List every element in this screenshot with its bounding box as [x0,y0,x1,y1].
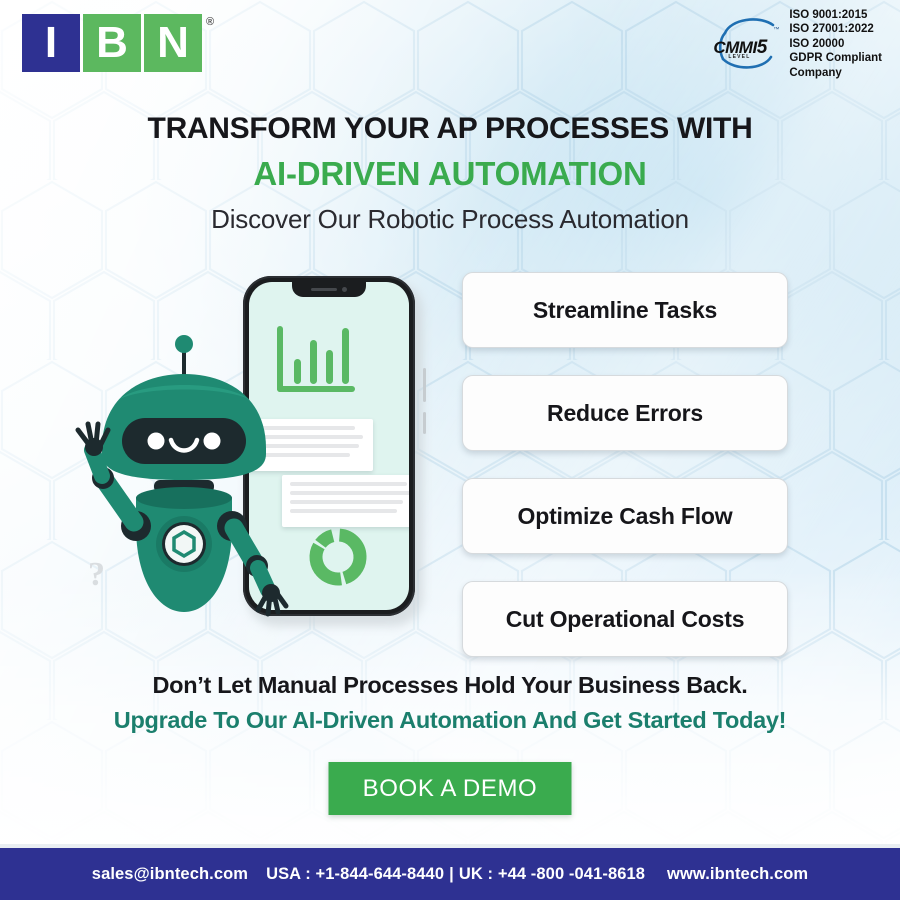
footer-email[interactable]: sales@ibntech.com [92,865,248,884]
headline-subtitle: Discover Our Robotic Process Automation [0,205,900,235]
logo-square-b: B [83,14,141,72]
book-a-demo-button[interactable]: BOOK A DEMO [329,762,572,815]
feature-list: Streamline Tasks Reduce Errors Optimize … [462,272,788,657]
cmmi-level-number: 5 [757,37,767,58]
cta-text-block: Don’t Let Manual Processes Hold Your Bus… [0,672,900,734]
footer-usa-phone[interactable]: USA : +1-844-644-8440 [266,865,444,884]
footer-bar: sales@ibntech.com USA : +1-844-644-8440 … [0,848,900,900]
cert-line: ISO 27001:2022 [789,22,882,36]
feature-card-reduce-errors[interactable]: Reduce Errors [462,375,788,451]
bar-chart-bar [310,340,317,384]
feature-card-cut-operational-costs[interactable]: Cut Operational Costs [462,581,788,657]
ibn-logo[interactable]: I B N ® [22,14,214,72]
cert-line: Company [789,66,882,80]
headline-line-2-accent: AI-DRIVEN AUTOMATION [0,156,900,192]
logo-square-n: N [144,14,202,72]
certifications-block: ™ CMMI5 LEVEL ISO 9001:2015 ISO 27001:20… [711,8,882,80]
cert-line: ISO 20000 [789,37,882,51]
footer-separator: | [444,865,459,884]
phone-donut-chart [307,526,369,588]
phone-side-button [423,412,426,434]
marketing-poster: I B N ® ™ CMMI5 LEVEL ISO 9001:2015 ISO … [0,0,900,900]
feature-card-optimize-cash-flow[interactable]: Optimize Cash Flow [462,478,788,554]
phone-camera-icon [342,287,347,292]
logo-square-i: I [22,14,80,72]
bar-chart-bar [326,350,333,384]
cta-line-1: Don’t Let Manual Processes Hold Your Bus… [0,672,900,699]
footer-website[interactable]: www.ibntech.com [667,865,808,884]
cert-line: GDPR Compliant [789,51,882,65]
phone-speaker-icon [311,288,337,291]
footer-uk-phone[interactable]: UK : +44 -800 -041-8618 [459,865,645,884]
cmmi-logo-icon: ™ CMMI5 LEVEL [711,13,785,75]
certification-list: ISO 9001:2015 ISO 27001:2022 ISO 20000 G… [789,8,882,80]
bar-chart-bar [342,328,349,384]
phone-notch [292,282,366,297]
phone-side-button [423,368,426,402]
question-mark-decoration: ? [88,556,105,594]
registered-trademark-icon: ® [206,16,214,28]
feature-card-streamline-tasks[interactable]: Streamline Tasks [462,272,788,348]
headline-line-1: TRANSFORM YOUR AP PROCESSES WITH [0,112,900,145]
cta-line-2: Upgrade To Our AI-Driven Automation And … [0,707,900,734]
cert-line: ISO 9001:2015 [789,8,882,22]
cmmi-level-label: LEVEL [728,54,750,60]
cmmi-tm-mark: ™ [773,27,779,33]
headline-block: TRANSFORM YOUR AP PROCESSES WITH AI-DRIV… [0,112,900,235]
